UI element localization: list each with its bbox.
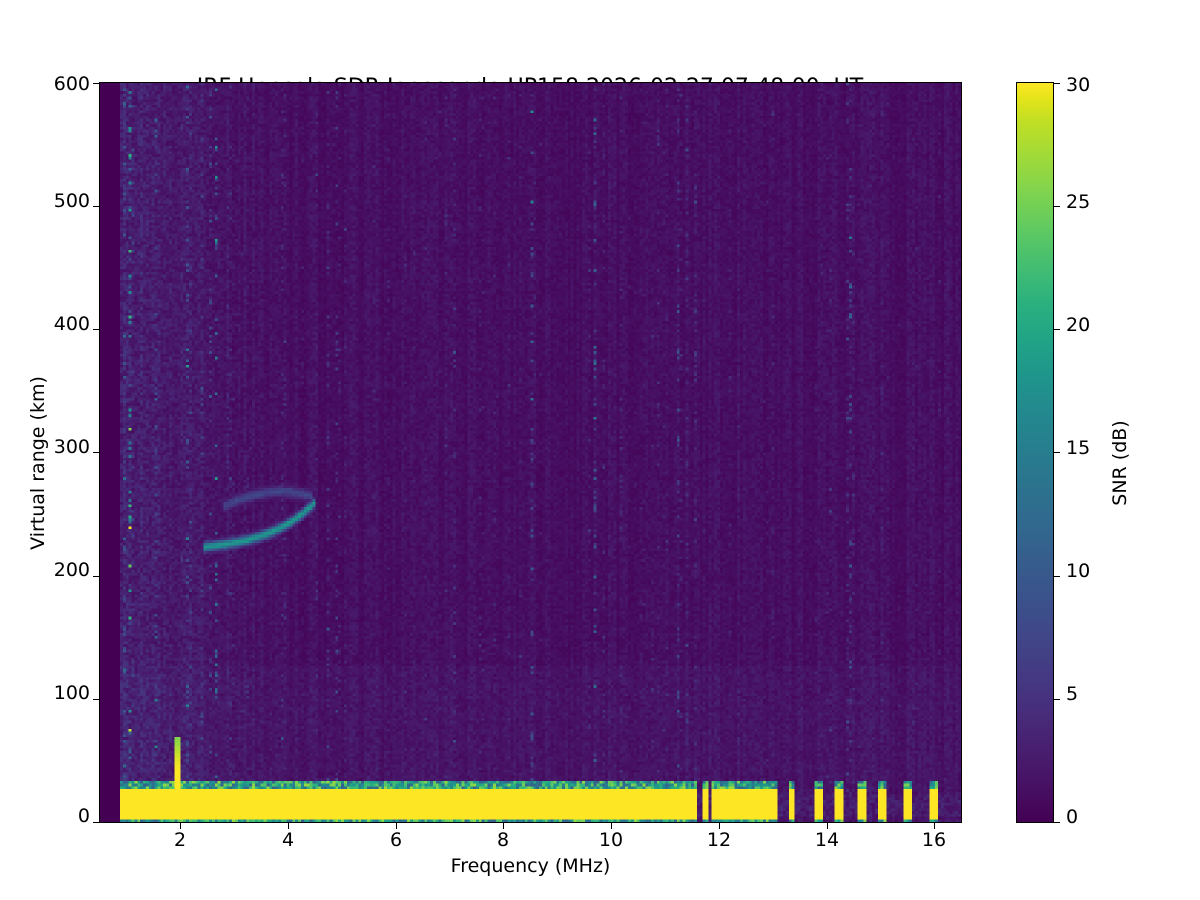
y-axis-label: Virtual range (km) — [27, 363, 49, 563]
colorbar-tick-label-10: 10 — [1066, 560, 1090, 582]
colorbar-tick-label-20: 20 — [1066, 314, 1090, 336]
ionogram-plot-area[interactable] — [99, 82, 962, 823]
x-tick-label-10: 10 — [599, 829, 623, 851]
y-tick-mark — [93, 206, 99, 207]
colorbar-tick-label-25: 25 — [1066, 191, 1090, 213]
x-tick-label-14: 14 — [815, 829, 839, 851]
y-tick-mark — [93, 576, 99, 577]
y-tick-label-100: 100 — [54, 682, 90, 704]
x-tick-label-6: 6 — [390, 829, 402, 851]
colorbar-tick-mark — [1054, 576, 1060, 577]
y-tick-label-500: 500 — [54, 190, 90, 212]
y-tick-mark — [93, 452, 99, 453]
x-tick-label-8: 8 — [497, 829, 509, 851]
y-tick-label-300: 300 — [54, 436, 90, 458]
colorbar-label: SNR (dB) — [1109, 363, 1131, 563]
colorbar-tick-label-5: 5 — [1066, 683, 1078, 705]
colorbar-tick-label-15: 15 — [1066, 437, 1090, 459]
y-tick-mark — [93, 699, 99, 700]
colorbar-tick-mark — [1054, 452, 1060, 453]
y-tick-label-400: 400 — [54, 313, 90, 335]
ionogram-heatmap — [100, 83, 961, 822]
x-tick-label-2: 2 — [174, 829, 186, 851]
x-axis-label: Frequency (MHz) — [99, 855, 962, 877]
colorbar-tick-mark — [1054, 822, 1060, 823]
colorbar-tick-mark — [1054, 699, 1060, 700]
x-tick-label-16: 16 — [922, 829, 946, 851]
y-tick-label-0: 0 — [78, 805, 90, 827]
y-tick-mark — [93, 83, 99, 84]
y-tick-label-600: 600 — [54, 73, 90, 95]
colorbar-tick-label-30: 30 — [1066, 74, 1090, 96]
colorbar-gradient — [1016, 82, 1054, 823]
colorbar-tick-label-0: 0 — [1066, 806, 1078, 828]
colorbar-tick-mark — [1054, 329, 1060, 330]
y-tick-label-200: 200 — [54, 559, 90, 581]
x-tick-label-12: 12 — [707, 829, 731, 851]
colorbar-tick-mark — [1054, 206, 1060, 207]
colorbar-tick-mark — [1054, 83, 1060, 84]
y-tick-mark — [93, 822, 99, 823]
y-tick-mark — [93, 329, 99, 330]
x-tick-label-4: 4 — [282, 829, 294, 851]
